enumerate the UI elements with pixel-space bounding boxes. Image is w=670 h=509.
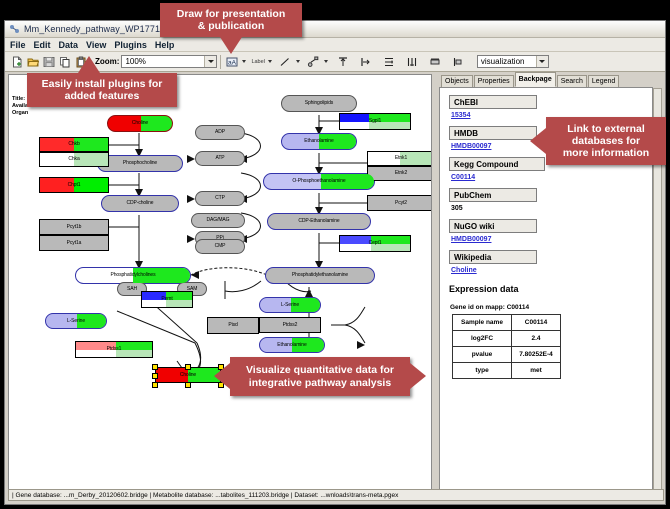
menu-data[interactable]: Data xyxy=(59,40,79,50)
row-key: type xyxy=(453,363,512,379)
label-tool-chevron-icon[interactable] xyxy=(268,60,272,63)
visualization-chevron-down-icon[interactable] xyxy=(536,56,548,67)
visualize-callout-arrow-left-icon xyxy=(214,363,230,389)
line-tool-icon[interactable] xyxy=(278,54,293,69)
gene-id-on-mapp: Gene id on mapp: C00114 xyxy=(450,304,652,311)
db-header-hmdb: HMDB xyxy=(449,126,537,140)
toolbar-separator xyxy=(220,55,221,69)
table-row: log2FC 2.4 xyxy=(453,331,561,347)
metabolite-phosphatidylcholines[interactable]: Phosphatidylcholines xyxy=(75,267,191,284)
metabolite-ctp[interactable]: CTP xyxy=(195,191,245,206)
open-folder-icon[interactable] xyxy=(25,54,40,69)
screenshot-root: Mm_Kennedy_pathway_WP1771_45176.gpml Fil… xyxy=(0,0,670,509)
tab-backpage[interactable]: Backpage xyxy=(515,72,556,87)
gene-pcyt2[interactable]: Pcyt2 xyxy=(367,195,432,211)
gene-ptdss2[interactable]: Ptdss2 xyxy=(259,317,321,333)
menu-help[interactable]: Help xyxy=(155,40,175,50)
menu-plugins[interactable]: Plugins xyxy=(114,40,147,50)
gene-ptdss1[interactable]: Ptdss1 xyxy=(75,341,153,358)
toolbar: Zoom: 100% aA Label xyxy=(5,52,665,72)
align-top-icon[interactable] xyxy=(336,54,351,69)
row-value: 2.4 xyxy=(512,331,561,347)
pathvisio-app-icon xyxy=(9,24,20,35)
plugins-callout-line1: Easily install plugins for xyxy=(42,78,163,90)
databases-callout: Link to external databases for more info… xyxy=(546,117,666,165)
db-value-pubchem: 305 xyxy=(451,205,652,212)
zoom-value: 100% xyxy=(125,57,145,66)
databases-callout-line2: databases for xyxy=(572,135,640,147)
metabolite-ethanolamine[interactable]: Ethanolamine xyxy=(281,133,357,150)
draw-callout-line2: & publication xyxy=(198,20,265,32)
expression-data-heading: Expression data xyxy=(449,284,652,294)
down-fill xyxy=(340,114,369,122)
canvas-info-availability: Availa xyxy=(12,103,28,110)
selection-handle-s[interactable] xyxy=(185,382,191,388)
distribute-horizontal-icon[interactable] xyxy=(405,54,420,69)
order-icon[interactable] xyxy=(451,54,466,69)
canvas-info-organism: Organ xyxy=(12,110,28,117)
metabolite-l-serine-right[interactable]: L-Serine xyxy=(259,297,321,313)
row-key: pvalue xyxy=(453,347,512,363)
metabolite-atp[interactable]: ATP xyxy=(195,151,245,166)
group-icon[interactable] xyxy=(428,54,443,69)
status-bar: | Gene database: ...m_Derby_20120602.bri… xyxy=(8,489,664,501)
gene-chkb[interactable]: Chkb xyxy=(39,137,109,152)
gene-pcyt1a[interactable]: Pcyt1a xyxy=(39,235,109,251)
db-header-nugo: NuGO wiki xyxy=(449,219,537,233)
db-header-chebi: ChEBI xyxy=(449,95,537,109)
draw-callout-arrow-icon xyxy=(220,37,242,54)
gene-pisd[interactable]: Pisd xyxy=(207,317,259,334)
plugins-callout-line2: added features xyxy=(65,90,140,102)
expression-table: Sample name C00114 log2FC 2.4 pvalue 7.8… xyxy=(452,314,561,379)
shape-tool-icon[interactable] xyxy=(306,54,321,69)
visualize-callout: Visualize quantitative data for integrat… xyxy=(230,357,410,396)
metabolite-cdp-choline[interactable]: CDP-choline xyxy=(101,195,179,212)
visualize-callout-line2: integrative pathway analysis xyxy=(249,377,391,389)
status-bar-text: | Gene database: ...m_Derby_20120602.bri… xyxy=(12,492,398,499)
tab-properties[interactable]: Properties xyxy=(474,75,514,87)
gene-cept1[interactable]: Cept1 xyxy=(339,235,411,252)
canvas-info-title: Title: xyxy=(12,96,25,103)
selection-handle-nw[interactable] xyxy=(152,364,158,370)
svg-text:aA: aA xyxy=(228,59,237,66)
metabolite-l-serine-left[interactable]: L-Serine xyxy=(45,313,107,329)
db-header-pubchem: PubChem xyxy=(449,188,537,202)
row-value: 7.80252E-4 xyxy=(512,347,561,363)
pathway-canvas[interactable]: Title: Availa Organ xyxy=(8,74,432,498)
tab-search[interactable]: Search xyxy=(557,75,587,87)
row-value: C00114 xyxy=(512,315,561,331)
label-tool-label: Label xyxy=(251,59,264,65)
gene-etnk1[interactable]: Etnk1 xyxy=(367,151,432,166)
text-tool-chevron-icon[interactable] xyxy=(242,60,246,63)
tab-objects[interactable]: Objects xyxy=(441,75,473,87)
table-row: Sample name C00114 xyxy=(453,315,561,331)
visualize-callout-line1: Visualize quantitative data for xyxy=(246,364,394,376)
menu-edit[interactable]: Edit xyxy=(34,40,51,50)
table-row: pvalue 7.80252E-4 xyxy=(453,347,561,363)
row-key: log2FC xyxy=(453,331,512,347)
copy-icon[interactable] xyxy=(57,54,72,69)
down-fill xyxy=(340,236,371,244)
db-link-wikipedia[interactable]: Choline xyxy=(451,267,652,274)
metabolite-phosphocholine[interactable]: Phosphocholine xyxy=(97,155,183,172)
gene-etnk2[interactable]: Etnk2 xyxy=(367,166,432,181)
plugins-callout-arrow-icon xyxy=(78,56,100,73)
metabolite-phosphatidylethanolamine[interactable]: Phosphatidylethanolamine xyxy=(265,267,375,284)
text-tool-icon[interactable]: aA xyxy=(224,54,239,69)
shape-tool-chevron-icon[interactable] xyxy=(324,60,328,63)
align-left-icon[interactable] xyxy=(359,54,374,69)
new-file-icon[interactable] xyxy=(9,54,24,69)
visualize-callout-arrow-right-icon xyxy=(410,363,426,389)
metabolite-sphingolipids[interactable]: Sphingolipids xyxy=(281,95,357,112)
metabolite-dagmag[interactable]: DAG/MAG xyxy=(191,213,245,228)
zoom-combobox[interactable]: 100% xyxy=(121,55,217,68)
gene-sgpl1[interactable]: Sgpl1 xyxy=(339,113,411,130)
metabolite-o-phosphoethanolamine[interactable]: O-Phosphoethanolamine xyxy=(263,173,375,190)
selection-handle-n[interactable] xyxy=(185,364,191,370)
metabolite-adp[interactable]: ADP xyxy=(195,125,245,140)
visualization-combobox[interactable]: visualization xyxy=(477,55,549,68)
window-titlebar: Mm_Kennedy_pathway_WP1771_45176.gpml xyxy=(5,21,665,38)
metabolite-choline-top[interactable]: Choline xyxy=(107,115,173,132)
gene-chpt1[interactable]: Chpt1 xyxy=(39,177,109,193)
menubar: File Edit Data View Plugins Help xyxy=(5,38,665,52)
visualization-value: visualization xyxy=(481,57,525,66)
selection-handle-w[interactable] xyxy=(152,373,158,379)
metabolite-cdp-ethanolamine[interactable]: CDP-Ethanolamine xyxy=(267,213,371,230)
chevron-down-icon[interactable] xyxy=(204,56,216,67)
metabolite-cmp[interactable]: CMP xyxy=(195,239,245,254)
databases-callout-line3: more information xyxy=(563,147,649,159)
db-header-wikipedia: Wikipedia xyxy=(449,250,537,264)
row-value: met xyxy=(512,363,561,379)
side-panel-tabs: Objects Properties Backpage Search Legen… xyxy=(441,74,620,87)
gene-pcyt1b[interactable]: Pcyt1b xyxy=(39,219,109,235)
plugins-callout: Easily install plugins for added feature… xyxy=(27,73,177,107)
gene-chka[interactable]: Chka xyxy=(39,152,109,167)
save-icon[interactable] xyxy=(41,54,56,69)
draw-callout: Draw for presentation & publication xyxy=(160,3,302,37)
db-link-nugo[interactable]: HMDB00097 xyxy=(451,236,652,243)
databases-callout-line1: Link to external xyxy=(567,123,645,135)
databases-callout-arrow-icon xyxy=(530,128,546,154)
db-header-kegg: Kegg Compound xyxy=(449,157,545,171)
metabolite-ethanolamine-bottom[interactable]: Ethanolamine xyxy=(259,337,325,353)
distribute-vertical-icon[interactable] xyxy=(382,54,397,69)
menu-file[interactable]: File xyxy=(10,40,26,50)
selection-handle-sw[interactable] xyxy=(152,382,158,388)
menu-view[interactable]: View xyxy=(86,40,106,50)
tab-legend[interactable]: Legend xyxy=(588,75,619,87)
table-row: type met xyxy=(453,363,561,379)
gene-pemt[interactable]: Pemt xyxy=(141,291,193,308)
row-key: Sample name xyxy=(453,315,512,331)
db-link-kegg[interactable]: C00114 xyxy=(451,174,652,181)
draw-callout-line1: Draw for presentation xyxy=(177,8,286,20)
line-tool-chevron-icon[interactable] xyxy=(296,60,300,63)
